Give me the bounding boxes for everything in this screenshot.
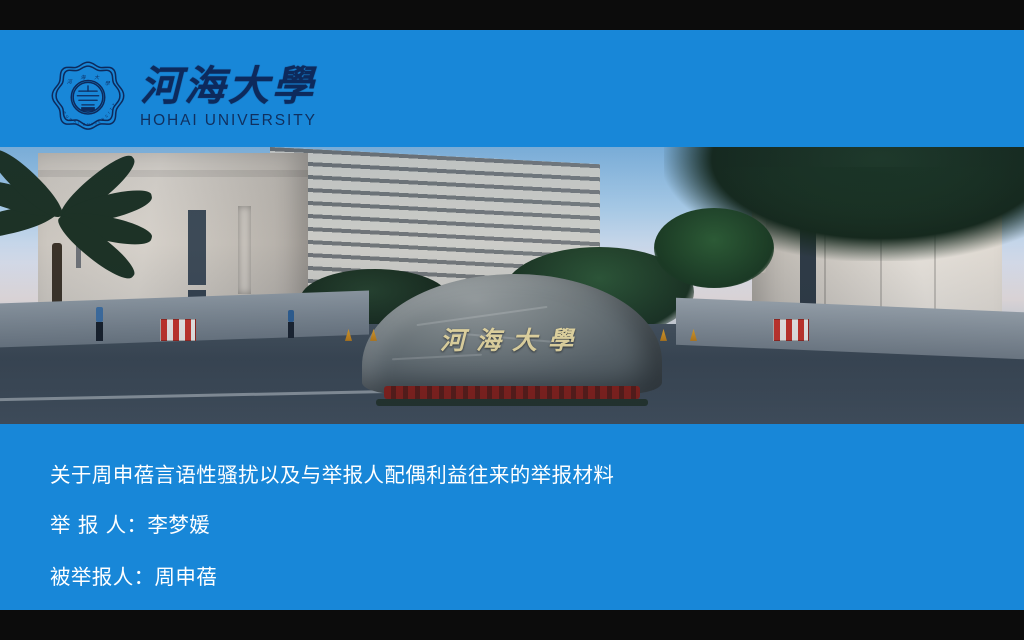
svg-text:S: S [105, 114, 110, 119]
photo-flower-bed [384, 386, 640, 399]
photo-pedestrian [288, 310, 294, 338]
photo-traffic-barrier-right [773, 319, 809, 341]
brand-english-name: HOHAI UNIVERSITY [140, 112, 317, 130]
photo-tree-cluster-far-right [654, 208, 774, 288]
svg-text:河: 河 [67, 79, 73, 86]
letterbox-bar-bottom [0, 610, 1024, 640]
svg-text:I: I [107, 111, 111, 115]
brand-lockup: 河 海 大 學 H O H A I U N I V [50, 60, 317, 136]
svg-text:I: I [78, 121, 80, 125]
photo-traffic-barrier-left [160, 319, 196, 341]
presentation-slide: 河 海 大 學 H O H A I U N I V [0, 30, 1024, 610]
report-title: 关于周申蓓言语性骚扰以及与举报人配偶利益往来的举报材料 [50, 458, 950, 488]
photo-security-guard [96, 307, 103, 341]
photo-hedge [376, 399, 648, 406]
slide-stage: 河 海 大 學 H O H A I U N I V [0, 0, 1024, 640]
photo-palm-tree [0, 147, 170, 322]
campus-gate-photo: 河海大學 [0, 147, 1024, 424]
monument-inscription: 河海大學 [440, 321, 584, 357]
hohai-university-seal-icon: 河 海 大 學 H O H A I U N I V [50, 60, 126, 136]
svg-text:N: N [87, 123, 90, 127]
svg-text:學: 學 [105, 80, 111, 87]
svg-text:U: U [83, 122, 86, 126]
letterbox-bar-top [0, 0, 1024, 30]
brand-wordmark: 河海大學 HOHAI UNIVERSITY [140, 66, 317, 131]
svg-text:大: 大 [94, 74, 100, 81]
brand-chinese-name: 河海大學 [140, 66, 317, 108]
svg-text:A: A [73, 119, 77, 124]
reporter-name-line: 举 报 人：李梦媛 [50, 508, 950, 538]
caption-block: 关于周申蓓言语性骚扰以及与举报人配偶利益往来的举报材料 举 报 人：李梦媛 被举… [50, 458, 950, 590]
reported-person-line: 被举报人：周申蓓 [50, 560, 950, 590]
